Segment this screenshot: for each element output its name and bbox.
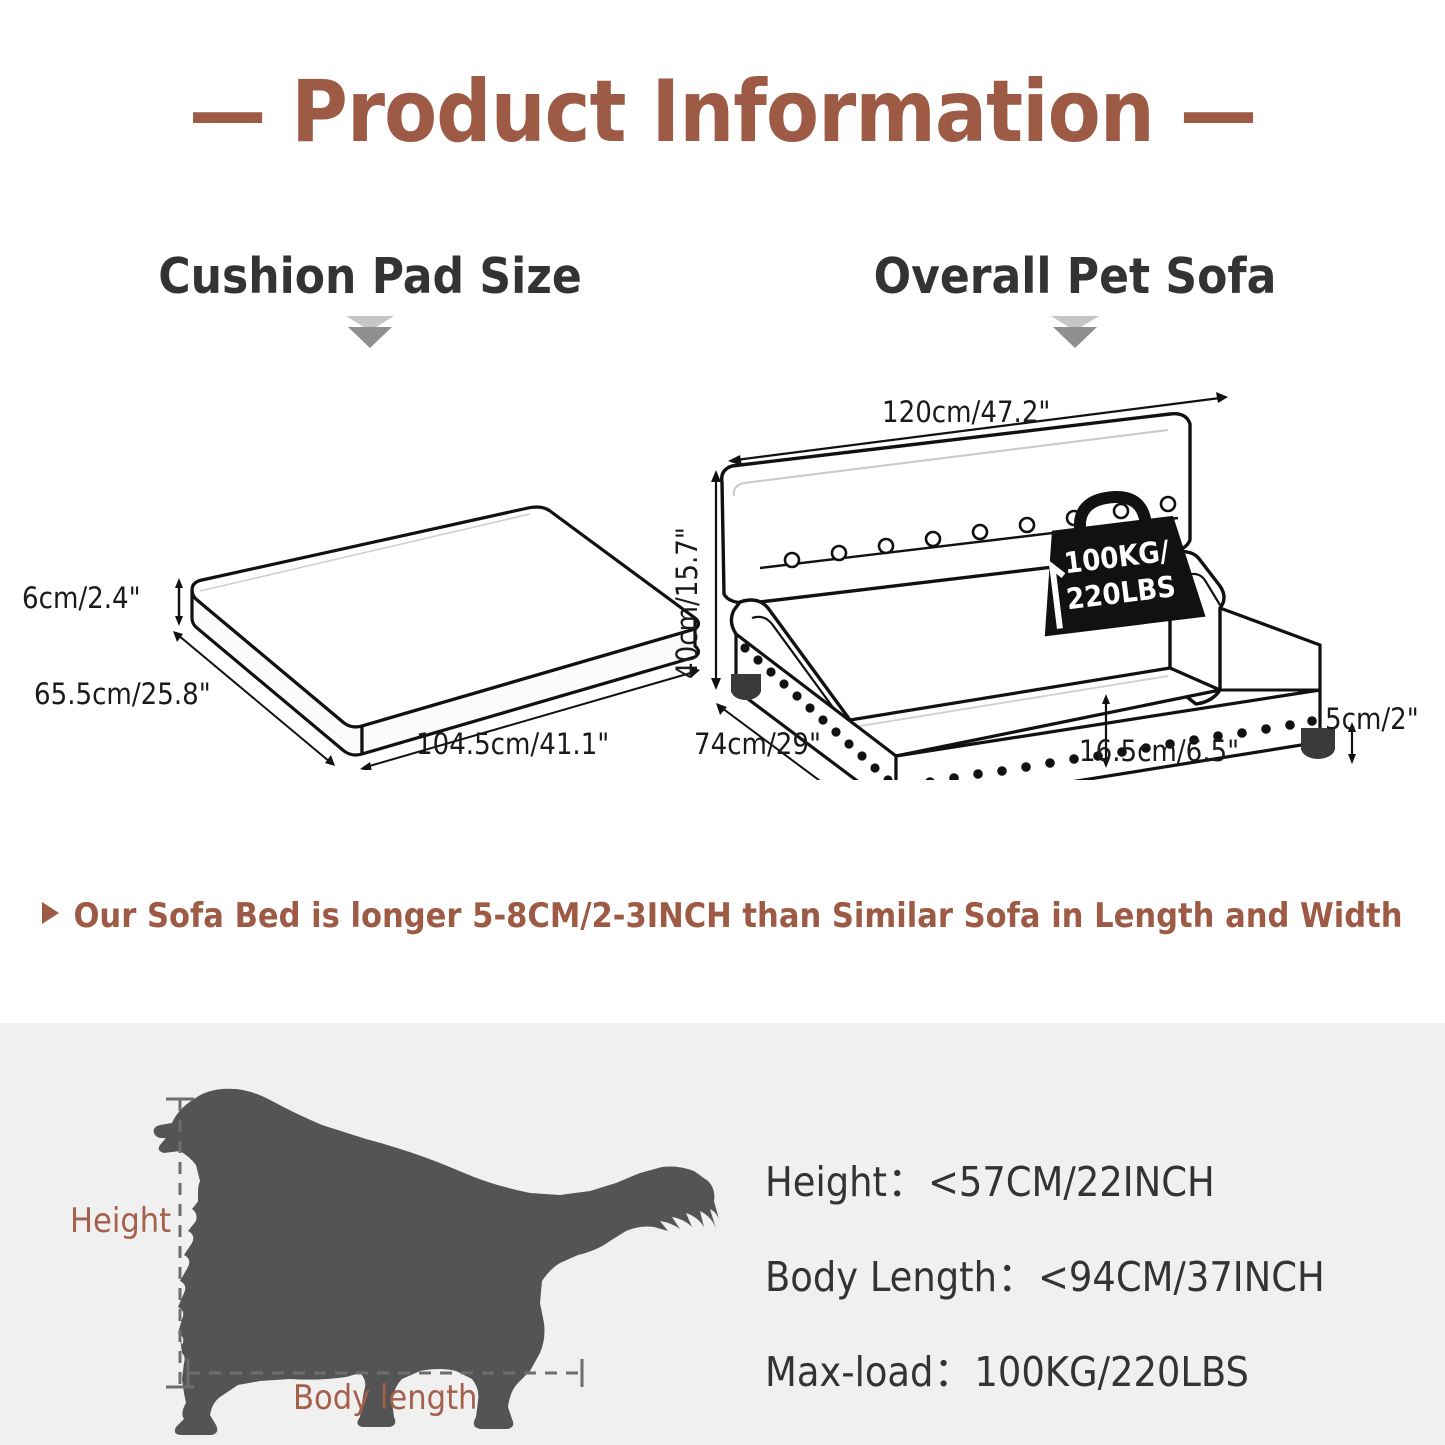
top-section: — Product Information — Cushion Pad Size… [0,0,1445,1023]
title-dash-right: — [1180,62,1256,162]
cushion-length-label: 104.5cm/41.1" [416,727,609,761]
sofa-length-label: 120cm/47.2" [882,395,1050,429]
cushion-section-heading: Cushion Pad Size [110,248,630,305]
highlight-banner-text: Our Sofa Bed is longer 5-8CM/2-3INCH tha… [73,896,1402,936]
sofa-section-heading: Overall Pet Sofa [810,248,1340,305]
spec-max-load: Max-load：100KG/220LBS [765,1338,1325,1398]
spec-body-length: Body Length：<94CM/37INCH [765,1243,1325,1303]
sofa-height-label: 40cm/15.7" [670,527,704,679]
dog-spec-list: Height：<57CM/22INCH Body Length：<94CM/37… [765,1148,1325,1398]
double-chevron-down-icon [1049,314,1101,350]
double-chevron-down-icon [344,314,396,350]
dog-height-measure [160,1093,200,1393]
cushion-width-label: 65.5cm/25.8" [34,677,211,711]
weight-tag-icon: 100KG/ 220LBS [1012,464,1221,656]
dog-height-label: Height [70,1201,171,1241]
page-title: — Product Information — [0,62,1445,162]
triangle-right-icon [42,902,59,924]
cushion-thickness-label: 6cm/2.4" [22,581,141,615]
product-information-infographic: — Product Information — Cushion Pad Size… [0,0,1445,1445]
spec-height: Height：<57CM/22INCH [765,1148,1325,1208]
title-dash-left: — [189,62,265,162]
title-text: Product Information [291,62,1154,162]
dog-body-length-label: Body length [293,1378,477,1418]
highlight-banner: Our Sofa Bed is longer 5-8CM/2-3INCH tha… [0,896,1445,936]
sofa-base-height-label: 16.5cm/6.5" [1079,734,1239,768]
sofa-foot-height-label: 5cm/2" [1325,702,1419,736]
sofa-depth-label: 74cm/29" [694,727,821,761]
